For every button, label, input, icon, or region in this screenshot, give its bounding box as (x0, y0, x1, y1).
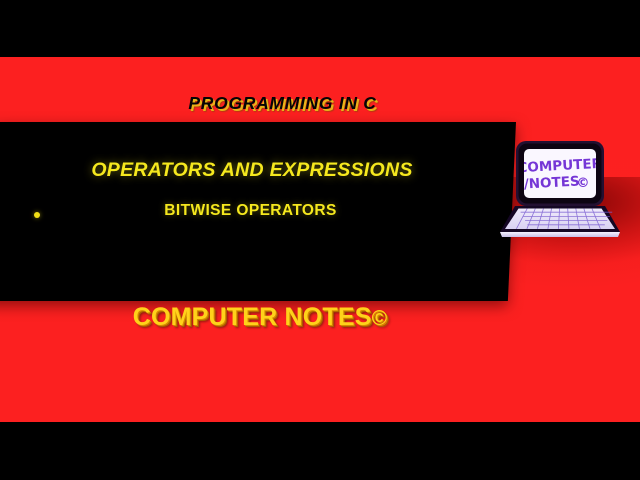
laptop-keyboard (500, 206, 620, 237)
brand-footer-copyright-icon: © (372, 307, 388, 330)
logo-copyright-icon: © (577, 176, 590, 191)
slide-stage-background: PROGRAMMING IN C OPERATORS AND EXPRESSIO… (0, 57, 640, 422)
brand-footer-name: COMPUTER NOTES (133, 303, 372, 331)
section-heading: OPERATORS AND EXPRESSIONS (0, 159, 510, 182)
content-panel: OPERATORS AND EXPRESSIONS BITWISE OPERAT… (0, 122, 516, 301)
content-panel-inner: OPERATORS AND EXPRESSIONS BITWISE OPERAT… (0, 122, 516, 301)
bullet-item-label: BITWISE OPERATORS (8, 202, 493, 220)
logo-text-line-2: /NOTES (523, 174, 580, 193)
bullet-list-item: BITWISE OPERATORS (0, 202, 510, 230)
computer-notes-laptop-logo: COMPUTER /NOTES © (494, 136, 626, 244)
page-title: PROGRAMMING IN C (0, 93, 565, 114)
brand-footer: COMPUTER NOTES© (0, 303, 520, 332)
slide-frame: PROGRAMMING IN C OPERATORS AND EXPRESSIO… (0, 0, 640, 480)
letterbox-bar-bottom (0, 422, 640, 480)
letterbox-bar-top (0, 0, 640, 57)
laptop-screen: COMPUTER /NOTES © (517, 149, 603, 198)
